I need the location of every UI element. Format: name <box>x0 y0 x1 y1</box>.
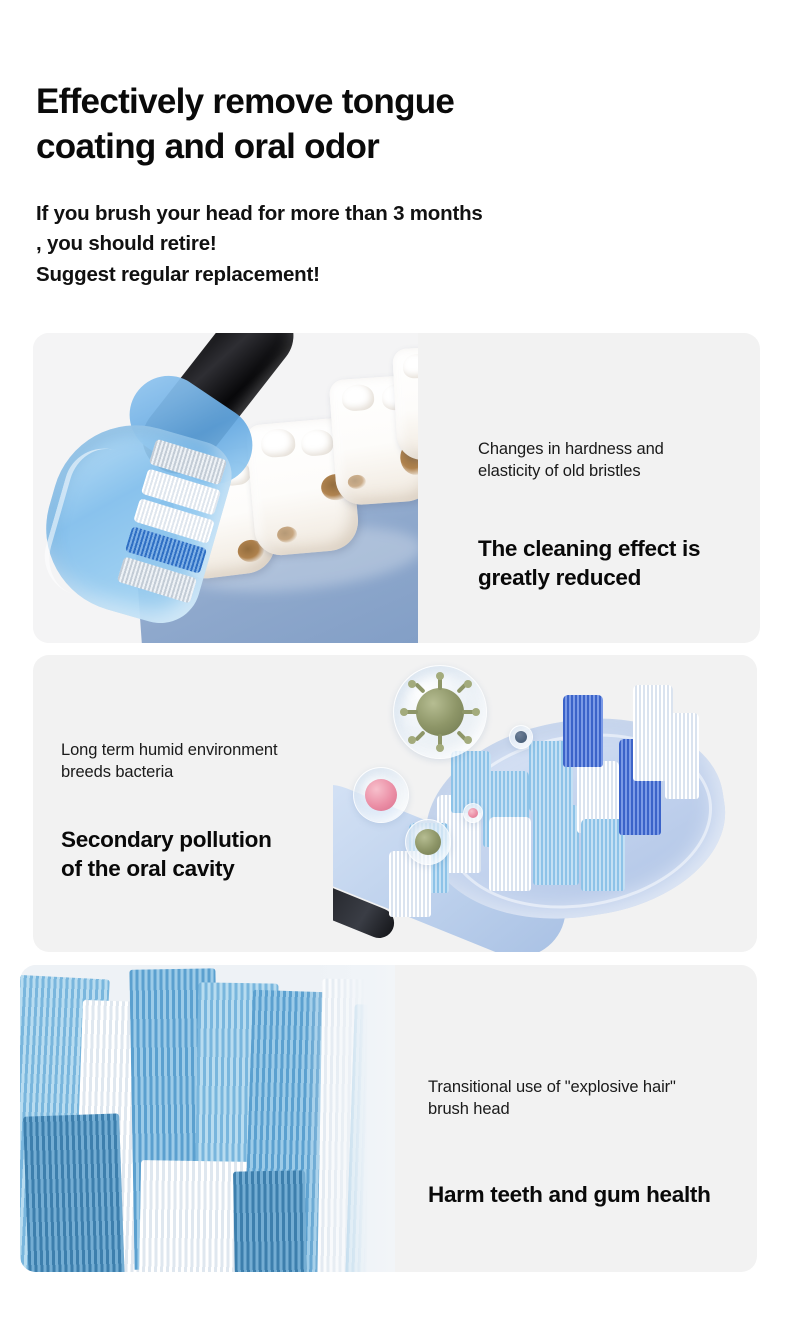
germ-bubble-small <box>405 819 451 865</box>
feature-card-splayed-bristles: Transitional use of "explosive hair" bru… <box>20 965 757 1272</box>
card-emphasis: The cleaning effect is greatly reduced <box>478 534 700 593</box>
germ-bubble-tiny <box>463 803 483 823</box>
page-title-line-1: Effectively remove tongue <box>36 80 676 124</box>
germ-particle-pink <box>365 779 397 811</box>
card-caption: Changes in hardness and elasticity of ol… <box>478 438 664 482</box>
photo-edge-glow <box>305 965 395 1272</box>
feature-card-old-bristles: Changes in hardness and elasticity of ol… <box>33 333 760 643</box>
germ-particle-pink <box>468 808 478 818</box>
germ-bubble-tiny <box>509 725 533 749</box>
image-macro-of-splayed-bristles <box>20 965 395 1272</box>
page-title-line-2: coating and oral odor <box>36 125 676 169</box>
image-brush-head-with-bacteria-bubbles <box>333 655 757 952</box>
germ-bubble-large <box>393 665 487 759</box>
subheading-line-3: Suggest regular replacement! <box>36 260 696 290</box>
image-toothbrush-head-on-stained-teeth <box>33 333 418 643</box>
bristle-tuft <box>563 695 603 767</box>
bristle-tuft <box>489 817 531 891</box>
subheading: If you brush your head for more than 3 m… <box>36 199 696 290</box>
card-text-block: Changes in hardness and elasticity of ol… <box>448 333 760 643</box>
germ-particle-green <box>416 688 464 736</box>
card-caption: Transitional use of "explosive hair" bru… <box>428 1076 676 1120</box>
subheading-line-2: , you should retire! <box>36 229 696 259</box>
bristle-tuft <box>665 713 699 799</box>
card-text-block: Long term humid environment breeds bacte… <box>33 655 383 952</box>
card-caption: Long term humid environment breeds bacte… <box>61 739 278 783</box>
bristle-tuft <box>23 1113 125 1272</box>
page-title: Effectively remove tongue coating and or… <box>36 80 676 169</box>
bristle-tuft <box>533 805 579 885</box>
card-emphasis: Secondary pollution of the oral cavity <box>61 825 272 884</box>
card-emphasis: Harm teeth and gum health <box>428 1180 711 1209</box>
germ-particle-green <box>415 829 441 855</box>
feature-card-bacteria: Long term humid environment breeds bacte… <box>33 655 757 952</box>
subheading-line-1: If you brush your head for more than 3 m… <box>36 199 696 229</box>
germ-bubble-pink <box>353 767 409 823</box>
bristle-tuft <box>233 1170 307 1272</box>
germ-particle-dark <box>515 731 527 743</box>
card-text-block: Transitional use of "explosive hair" bru… <box>395 965 757 1272</box>
